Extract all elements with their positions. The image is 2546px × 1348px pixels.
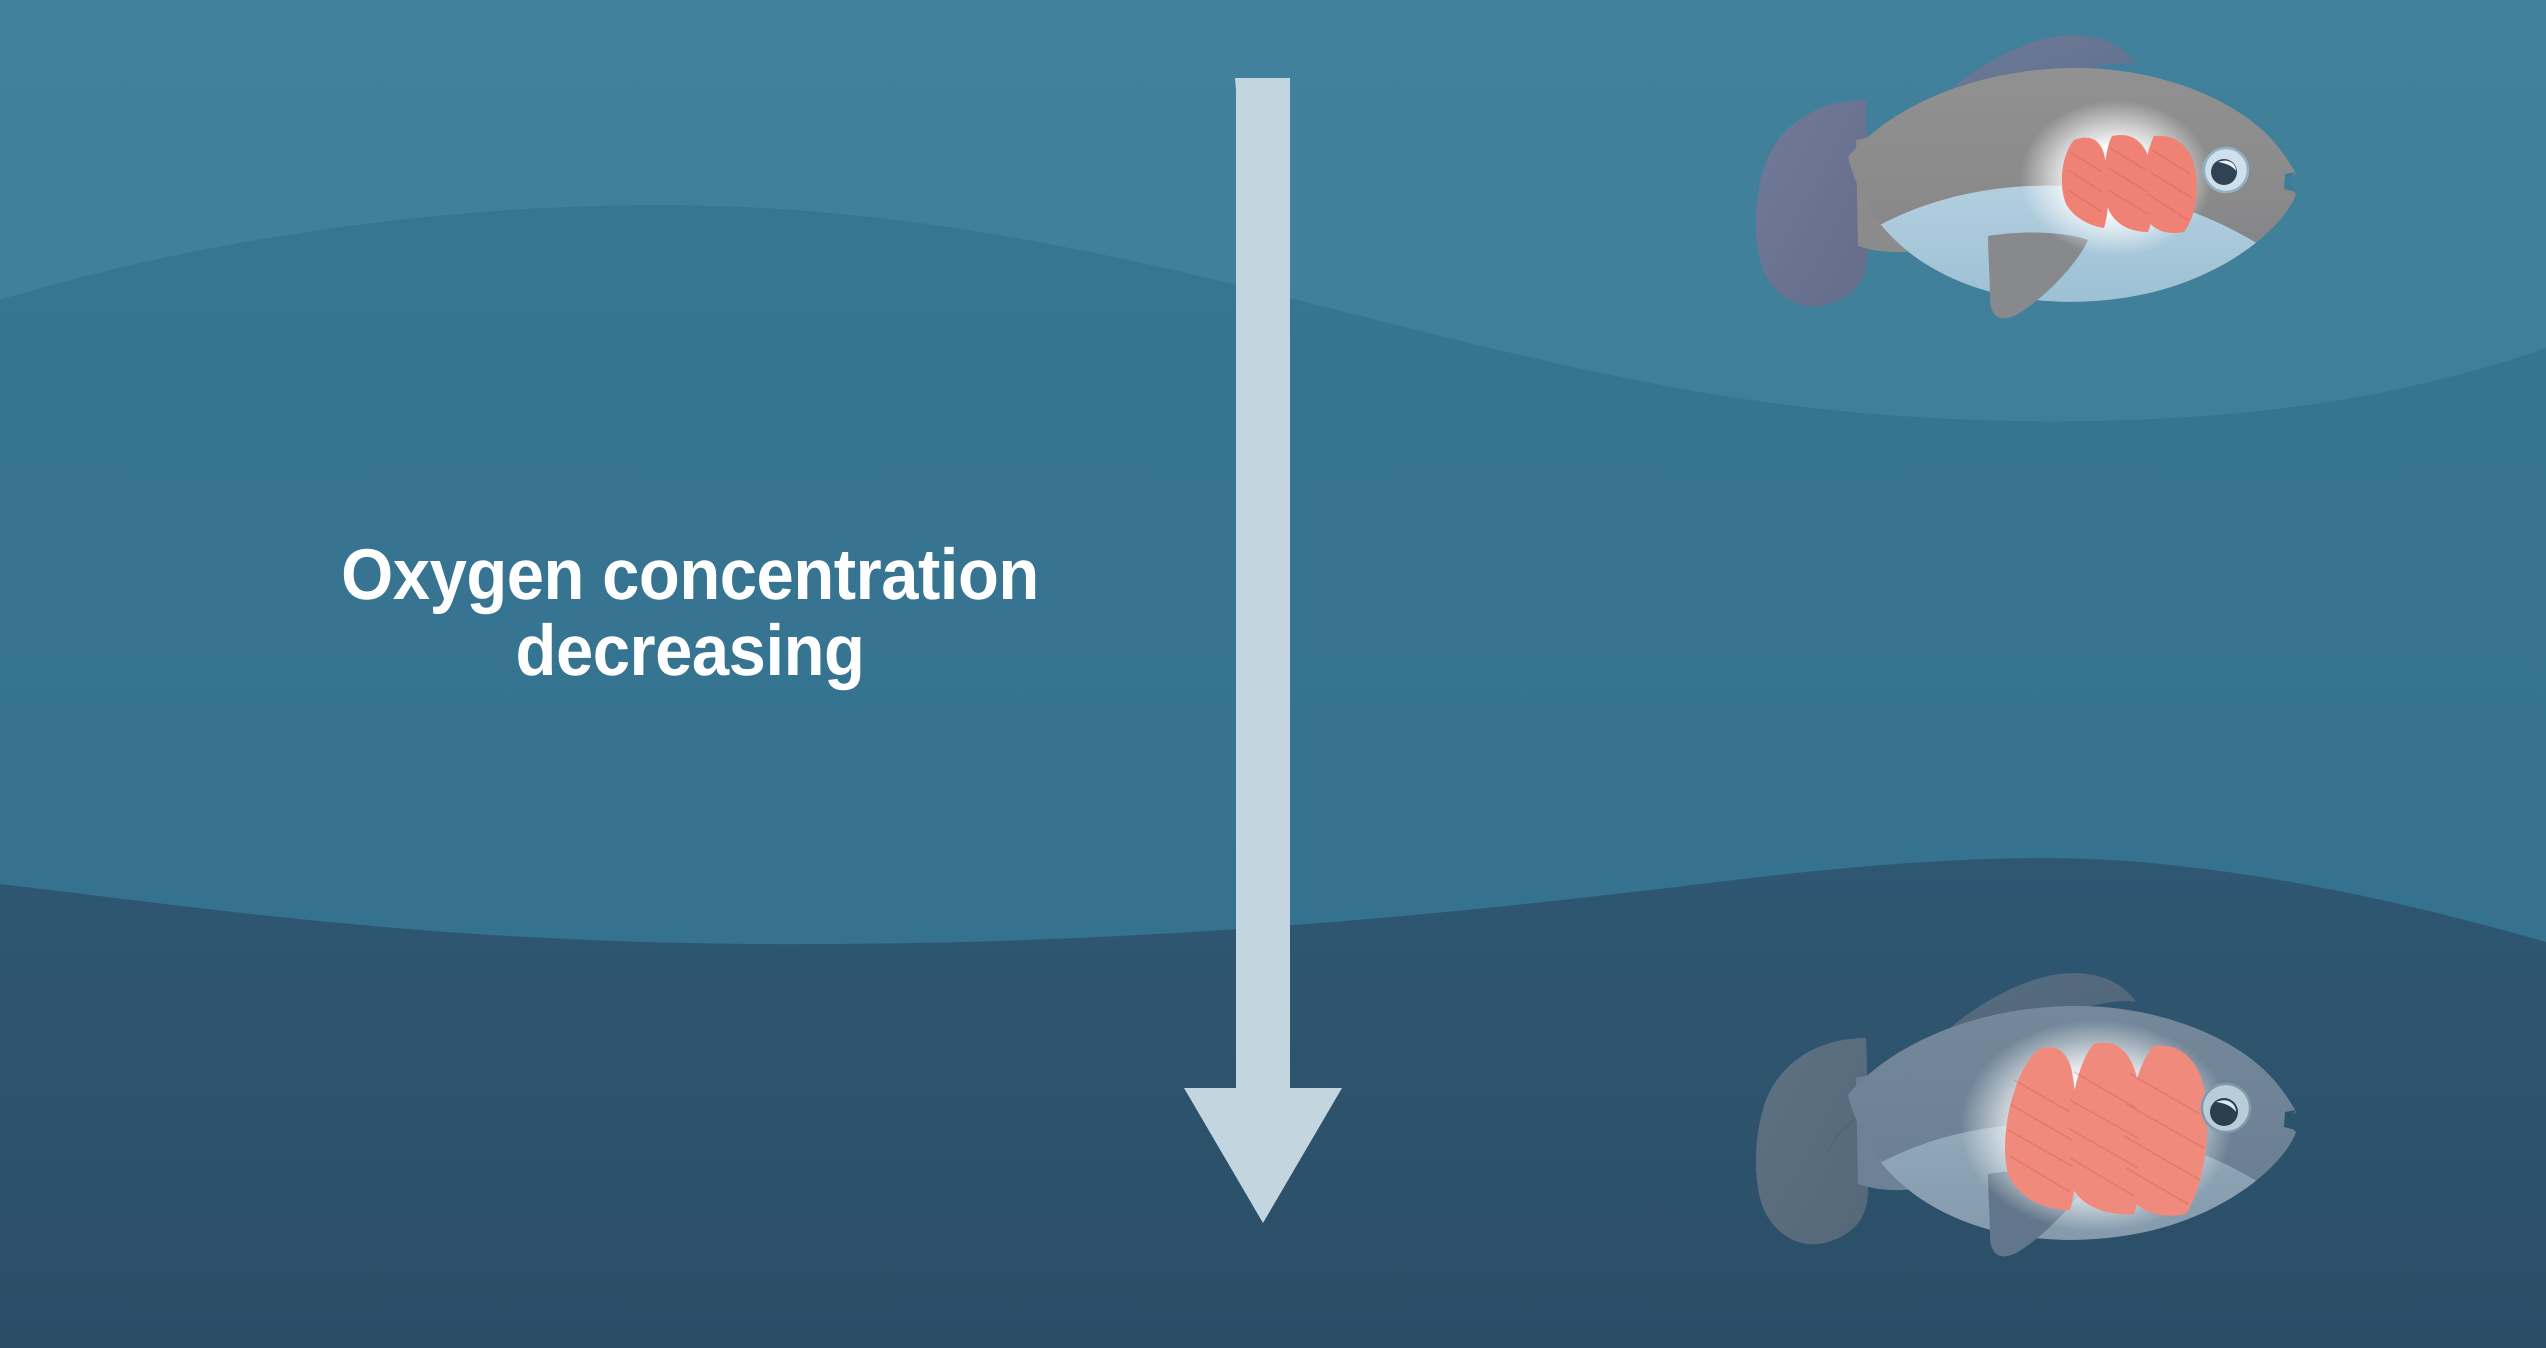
caption-text: Oxygen concentration decreasing [281, 538, 1099, 689]
arrow-body [1184, 78, 1342, 1223]
fish-shallow [1718, 22, 2318, 352]
tail-fin [1756, 1038, 1868, 1244]
eye [2202, 1084, 2250, 1132]
tail-fin [1756, 100, 1868, 306]
eye [2204, 148, 2248, 192]
caption-line-2: decreasing [281, 614, 1099, 690]
gill-arches [2062, 135, 2197, 233]
gill-arches-enlarged [2005, 1043, 2207, 1216]
caption-line-1: Oxygen concentration [281, 538, 1099, 614]
fish-deep [1718, 960, 2318, 1290]
downward-arrow-icon [1182, 78, 1392, 1228]
illustration-canvas: Oxygen concentration decreasing [0, 0, 2546, 1348]
